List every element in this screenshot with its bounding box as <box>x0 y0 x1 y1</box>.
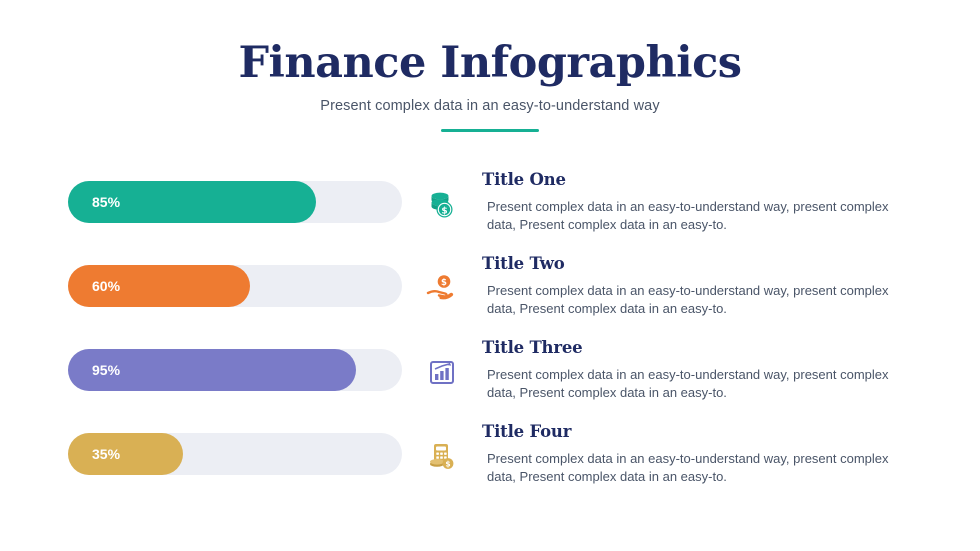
progress-fill <box>68 433 183 475</box>
progress-track: 85% <box>68 181 402 223</box>
progress-value-label: 85% <box>92 181 120 223</box>
row-description: Present complex data in an easy-to-under… <box>482 366 912 402</box>
row-text: Title Three Present complex data in an e… <box>482 338 912 402</box>
svg-text:$: $ <box>441 206 447 216</box>
row-description: Present complex data in an easy-to-under… <box>482 450 912 486</box>
infographic-row: 95% Title Three Present complex data in … <box>0 328 980 412</box>
slide: Finance Infographics Present complex dat… <box>0 0 980 551</box>
row-title: Title Four <box>482 422 912 441</box>
row-text: Title Four Present complex data in an ea… <box>482 422 912 486</box>
progress-track: 60% <box>68 265 402 307</box>
progress-track: 95% <box>68 349 402 391</box>
row-description: Present complex data in an easy-to-under… <box>482 198 912 234</box>
infographic-row: 85% $ Title One Present complex data in … <box>0 160 980 244</box>
progress-value-label: 35% <box>92 433 120 475</box>
svg-text:$: $ <box>445 460 450 469</box>
progress-value-label: 60% <box>92 265 120 307</box>
row-title: Title One <box>482 170 912 189</box>
row-text: Title Two Present complex data in an eas… <box>482 254 912 318</box>
infographic-rows: 85% $ Title One Present complex data in … <box>0 160 980 496</box>
page-subtitle: Present complex data in an easy-to-under… <box>0 98 980 114</box>
growth-bar-chart-icon <box>424 354 460 390</box>
row-title: Title Three <box>482 338 912 357</box>
money-calculator-icon: $ <box>424 438 460 474</box>
infographic-row: 60% $ Title Two Present complex data in … <box>0 244 980 328</box>
stacked-coins-icon: $ <box>424 186 460 222</box>
row-description: Present complex data in an easy-to-under… <box>482 282 912 318</box>
svg-text:$: $ <box>441 278 447 288</box>
row-title: Title Two <box>482 254 912 273</box>
row-text: Title One Present complex data in an eas… <box>482 170 912 234</box>
hand-coin-icon: $ <box>424 270 460 306</box>
progress-value-label: 95% <box>92 349 120 391</box>
progress-track: 35% <box>68 433 402 475</box>
page-title: Finance Infographics <box>0 38 980 88</box>
title-divider <box>441 129 539 132</box>
infographic-row: 35% $ Title Fou <box>0 412 980 496</box>
